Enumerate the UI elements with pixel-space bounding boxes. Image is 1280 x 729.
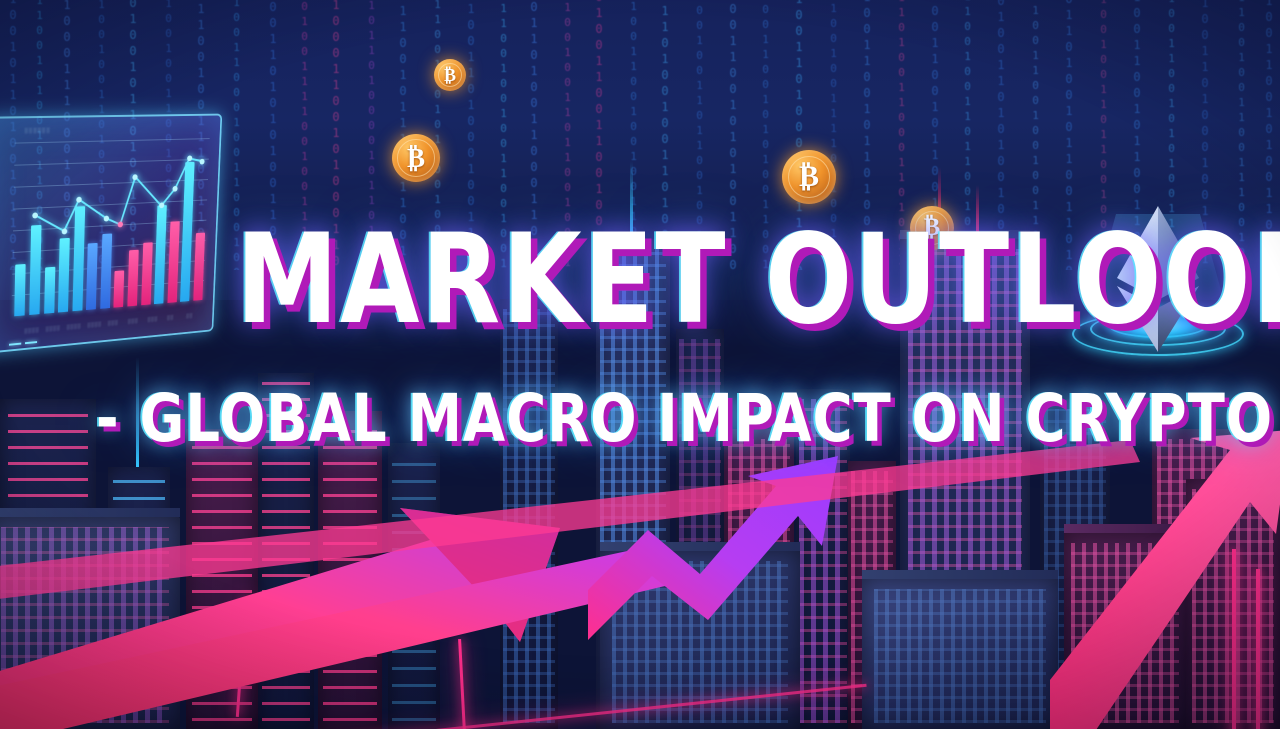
bitcoin-coin-4: ₿ (910, 206, 954, 250)
arrow-background-pink-streak (0, 440, 1160, 600)
holographic-chart-panel: ░░░░░░ ░░░░░░░░░░░░░░░░░░░░░ ░░░░░░░░░░░… (0, 114, 222, 355)
chart-x-tick: ░░ (167, 315, 174, 321)
poster-canvas: 1001011010010110100101101001011010010110… (0, 0, 1280, 729)
chart-x-tick: ░░░ (128, 318, 138, 324)
chart-trend-line (11, 138, 209, 316)
chart-plot-area (11, 138, 209, 316)
chart-x-tick: ░░ (186, 313, 193, 319)
ethereum-logo (1058, 196, 1258, 386)
chart-data-point (61, 228, 67, 234)
bitcoin-coin-2: ₿ (392, 134, 440, 182)
ethereum-diamond-icon (1115, 204, 1201, 354)
chart-x-tick: ░░░ (108, 320, 119, 327)
bitcoin-coin-1: ₿ (434, 59, 466, 91)
chart-plot-title: ░░░░░░ (24, 128, 50, 134)
bitcoin-coin-3: ₿ (782, 150, 836, 204)
chart-x-tick: ░░░ (147, 317, 157, 323)
